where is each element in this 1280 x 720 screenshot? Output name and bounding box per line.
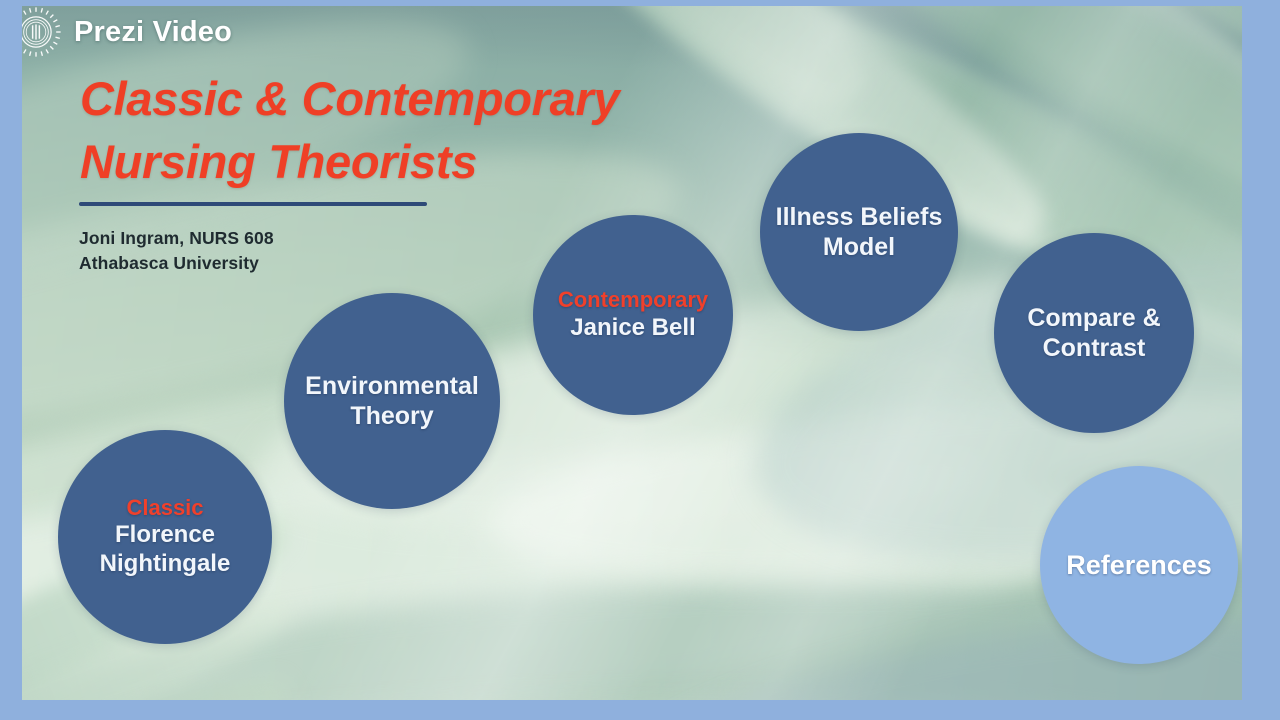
bubble-line1: Illness Beliefs (776, 202, 943, 232)
prezi-video-branding: Prezi Video (22, 6, 232, 60)
bubble-line2: Nightingale (100, 550, 231, 579)
title-divider-rule (79, 202, 427, 206)
bubble-eyebrow: Contemporary (558, 287, 708, 313)
bubble-contemporary-janice-bell[interactable]: Contemporary Janice Bell (533, 215, 733, 415)
byline-line-1: Joni Ingram, NURS 608 (79, 226, 274, 251)
presentation-slide[interactable]: Classic Florence Nightingale Environment… (22, 6, 1242, 700)
bubble-line2: Model (823, 232, 895, 262)
byline-line-2: Athabasca University (79, 251, 274, 276)
bubble-line1: Janice Bell (570, 314, 695, 343)
bubble-eyebrow: Classic (126, 495, 203, 521)
title-line-1: Classic & Contemporary (80, 68, 619, 131)
bubble-environmental-theory[interactable]: Environmental Theory (284, 293, 500, 509)
bubble-compare-contrast[interactable]: Compare & Contrast (994, 233, 1194, 433)
bubble-line2: Contrast (1043, 333, 1146, 363)
bubble-references[interactable]: References (1040, 466, 1238, 664)
video-frame: Classic Florence Nightingale Environment… (0, 0, 1280, 720)
bubble-line2: Theory (350, 401, 433, 431)
slide-title: Classic & Contemporary Nursing Theorists (80, 68, 619, 193)
title-line-2: Nursing Theorists (80, 131, 619, 194)
bubble-line1: Florence (115, 521, 215, 550)
bubble-line1: Compare & (1027, 303, 1160, 333)
bubble-illness-beliefs-model[interactable]: Illness Beliefs Model (760, 133, 958, 331)
bubble-line1: References (1066, 549, 1212, 581)
prezi-sunburst-icon (22, 6, 64, 60)
bubble-line1: Environmental (305, 371, 479, 401)
author-byline: Joni Ingram, NURS 608 Athabasca Universi… (79, 226, 274, 277)
prezi-video-wordmark: Prezi Video (74, 16, 232, 49)
bubble-classic-florence-nightingale[interactable]: Classic Florence Nightingale (58, 430, 272, 644)
